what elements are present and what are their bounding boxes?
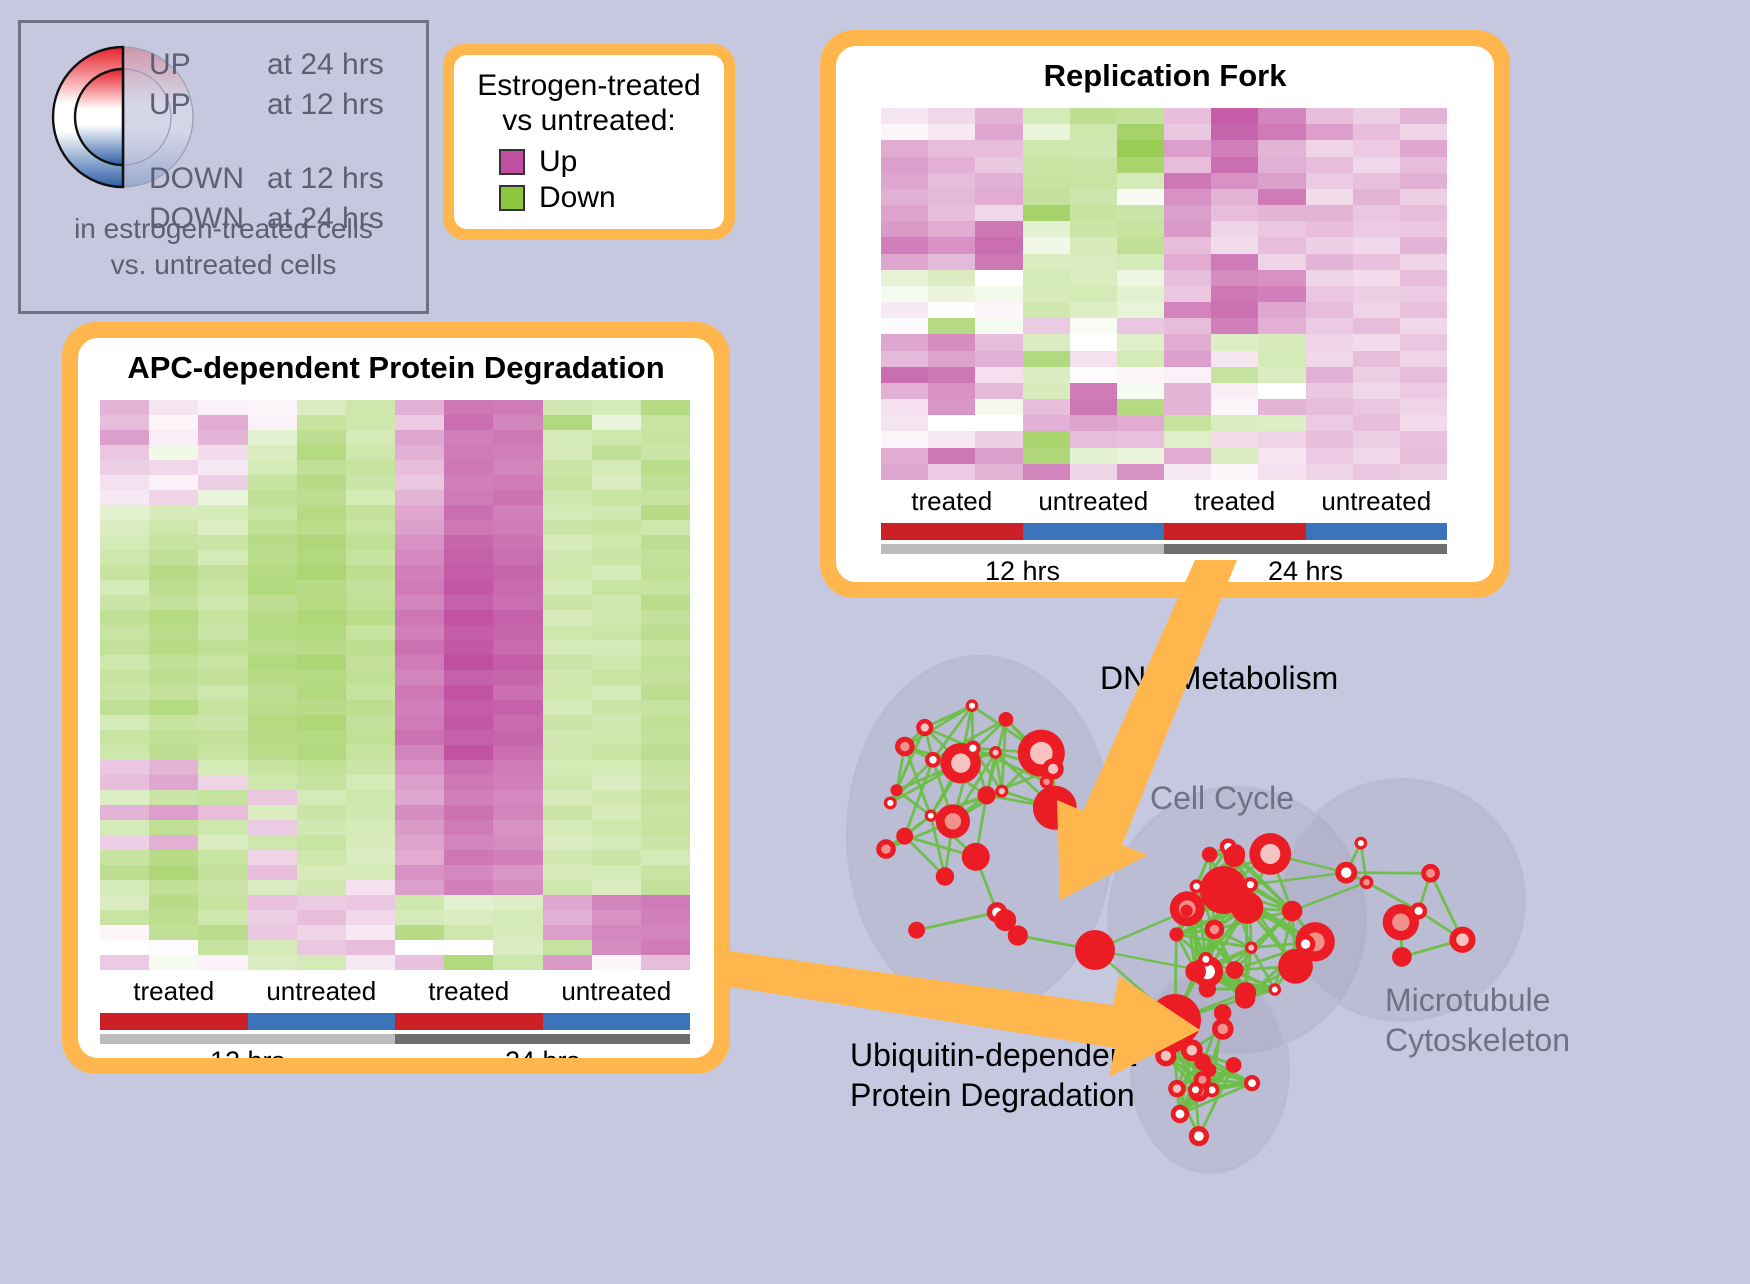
heatmap-cell xyxy=(543,790,592,805)
heatmap-cell xyxy=(198,745,247,760)
heatmap-cell xyxy=(149,400,198,415)
heatmap-cell xyxy=(198,805,247,820)
heatmap-cell xyxy=(1164,140,1211,156)
heatmap-cell xyxy=(881,286,928,302)
heatmap-cell xyxy=(1117,108,1164,124)
heatmap-cell xyxy=(248,520,297,535)
heatmap-cell xyxy=(1258,383,1305,399)
expression-key-box: UP at 24 hrs UP at 12 hrs DOWN at 12 hrs… xyxy=(18,20,429,314)
heatmap-cell xyxy=(493,625,542,640)
heatmap-cell xyxy=(1023,431,1070,447)
heatmap-cell xyxy=(149,535,198,550)
network-node[interactable] xyxy=(1075,930,1115,970)
network-node[interactable] xyxy=(1202,847,1218,863)
network-node[interactable] xyxy=(1226,961,1244,979)
heatmap-cell xyxy=(881,431,928,447)
heatmap-cell xyxy=(641,835,690,850)
heatmap-cell xyxy=(395,760,444,775)
heatmap-cell xyxy=(543,775,592,790)
heatmap-cell xyxy=(928,286,975,302)
network-node[interactable] xyxy=(1282,901,1303,922)
cluster-label-ubiquitin-dependent: Ubiquitin-dependent xyxy=(850,1035,1136,1075)
heatmap-cell xyxy=(444,955,493,970)
key-row: DOWN at 12 hrs xyxy=(149,159,419,199)
heatmap-cell xyxy=(1117,270,1164,286)
heatmap-cell xyxy=(1211,334,1258,350)
heatmap-cell xyxy=(1258,173,1305,189)
heatmap-cell xyxy=(100,565,149,580)
heatmap-cell xyxy=(928,108,975,124)
heatmap-cell xyxy=(881,318,928,334)
heatmap-cell xyxy=(248,415,297,430)
heatmap-cell xyxy=(592,760,641,775)
heatmap-cell xyxy=(1023,108,1070,124)
heatmap-cell xyxy=(592,955,641,970)
heatmap-cell xyxy=(248,880,297,895)
key-footer-line1: in estrogen-treated cells xyxy=(21,211,426,247)
heatmap-cell xyxy=(592,895,641,910)
heatmap-cell xyxy=(198,460,247,475)
heatmap-cell xyxy=(444,415,493,430)
heatmap-cell xyxy=(1306,124,1353,140)
heatmap-cell xyxy=(100,475,149,490)
heatmap-cell xyxy=(149,730,198,745)
legend-title-line1: Estrogen-treated xyxy=(477,68,700,103)
heatmap-cell xyxy=(592,880,641,895)
treatment-bar-apc xyxy=(100,1013,690,1030)
heatmap-cell xyxy=(928,318,975,334)
heatmap-cell xyxy=(975,431,1022,447)
heatmap-cell xyxy=(297,430,346,445)
axis-group-label: treated xyxy=(100,976,248,1007)
heatmap-cell xyxy=(1070,173,1117,189)
updown-legend-box: Estrogen-treated vs untreated: Up Down xyxy=(443,44,735,240)
heatmap-cell xyxy=(1258,140,1305,156)
heatmap-cell xyxy=(1353,140,1400,156)
heatmap-cell xyxy=(297,850,346,865)
network-node[interactable] xyxy=(896,828,913,845)
heatmap-cell xyxy=(1211,367,1258,383)
heatmap-cell xyxy=(1400,124,1447,140)
heatmap-cell xyxy=(928,140,975,156)
cluster-label-microtubule-cytoskeleton: Microtubule Cytoskeleton xyxy=(1385,980,1570,1060)
heatmap-cell xyxy=(149,760,198,775)
heatmap-cell xyxy=(493,565,542,580)
heatmap-cell xyxy=(641,475,690,490)
heatmap-cell xyxy=(1070,464,1117,480)
heatmap-cell xyxy=(592,730,641,745)
heatmap-cell xyxy=(248,955,297,970)
heatmap-cell xyxy=(493,535,542,550)
heatmap-cell xyxy=(444,745,493,760)
network-node[interactable] xyxy=(908,922,925,939)
heatmap-cell xyxy=(493,745,542,760)
heatmap-cell xyxy=(543,865,592,880)
heatmap-cell xyxy=(198,430,247,445)
heatmap-cell xyxy=(444,760,493,775)
heatmap-cell xyxy=(592,625,641,640)
heatmap-cell xyxy=(1164,351,1211,367)
heatmap-cell xyxy=(1353,334,1400,350)
heatmap-cell xyxy=(1023,464,1070,480)
heatmap-cell xyxy=(395,595,444,610)
heatmap-cell xyxy=(297,550,346,565)
network-node[interactable] xyxy=(998,712,1013,727)
heatmap-cell xyxy=(1070,383,1117,399)
heatmap-cell xyxy=(100,820,149,835)
heatmap-cell xyxy=(543,460,592,475)
axis-group-bar xyxy=(100,1013,248,1030)
heatmap-cell xyxy=(928,383,975,399)
heatmap-cell xyxy=(1258,334,1305,350)
heatmap-cell xyxy=(1306,205,1353,221)
time-bar-apc xyxy=(100,1034,690,1044)
heatmap-cell xyxy=(395,820,444,835)
heatmap-cell xyxy=(149,940,198,955)
heatmap-cell xyxy=(149,430,198,445)
heatmap-cell xyxy=(1211,448,1258,464)
heatmap-cell xyxy=(1070,318,1117,334)
heatmap-cell xyxy=(248,460,297,475)
heatmap-cell xyxy=(149,490,198,505)
heatmap-cell xyxy=(346,730,395,745)
heatmap-cell xyxy=(248,430,297,445)
heatmap-cell xyxy=(928,302,975,318)
heatmap-cell xyxy=(1258,157,1305,173)
heatmap-cell xyxy=(198,655,247,670)
heatmap-cell xyxy=(1353,351,1400,367)
heatmap-cell xyxy=(444,790,493,805)
network-node[interactable] xyxy=(1033,786,1077,830)
heatmap-cell xyxy=(1164,124,1211,140)
heatmap-cell xyxy=(395,415,444,430)
heatmap-cell xyxy=(592,655,641,670)
network-node[interactable] xyxy=(1226,1057,1242,1073)
heatmap-cell xyxy=(543,955,592,970)
heatmap-cell xyxy=(198,865,247,880)
network-node[interactable] xyxy=(1169,927,1183,941)
cluster-label-cytoskeleton: Cytoskeleton xyxy=(1385,1020,1570,1060)
heatmap-cell xyxy=(1023,189,1070,205)
panel-replication-fork: Replication Fork treateduntreatedtreated… xyxy=(820,30,1510,598)
heatmap-cell xyxy=(1258,124,1305,140)
axis-group-label: treated xyxy=(1164,486,1306,517)
heatmap-cell xyxy=(928,157,975,173)
network-node-core xyxy=(1415,907,1423,915)
heatmap-cell xyxy=(1306,464,1353,480)
heatmap-cell xyxy=(198,820,247,835)
heatmap-cell xyxy=(1070,205,1117,221)
heatmap-cell xyxy=(1070,415,1117,431)
heatmap-cell xyxy=(1164,205,1211,221)
heatmap-cell xyxy=(592,610,641,625)
heatmap-cell xyxy=(493,640,542,655)
heatmap-cell xyxy=(346,670,395,685)
heatmap-cell xyxy=(248,820,297,835)
heatmap-cell xyxy=(346,640,395,655)
key-direction: DOWN xyxy=(149,162,267,196)
heatmap-cell xyxy=(149,415,198,430)
heatmap-cell xyxy=(928,254,975,270)
heatmap-cell xyxy=(493,730,542,745)
network-node-core xyxy=(1194,1131,1204,1141)
heatmap-cell xyxy=(198,895,247,910)
heatmap-cell xyxy=(1070,189,1117,205)
heatmap-cell xyxy=(444,610,493,625)
heatmap-cell xyxy=(1164,464,1211,480)
heatmap-cell xyxy=(1117,237,1164,253)
heatmap-cell xyxy=(1258,254,1305,270)
network-node[interactable] xyxy=(1392,947,1412,967)
heatmap-cell xyxy=(1117,286,1164,302)
heatmap-cell xyxy=(1023,205,1070,221)
network-node[interactable] xyxy=(1224,846,1245,867)
heatmap-cell xyxy=(248,715,297,730)
heatmap-cell xyxy=(198,550,247,565)
heatmap-cell xyxy=(149,835,198,850)
heatmap-cell xyxy=(975,399,1022,415)
axis-group-bar xyxy=(1164,523,1306,540)
heatmap-cell xyxy=(198,670,247,685)
heatmap-cell xyxy=(592,715,641,730)
heatmap-cell xyxy=(1070,124,1117,140)
network-node[interactable] xyxy=(962,843,990,871)
heatmap-cell xyxy=(149,880,198,895)
heatmap-cell xyxy=(1353,431,1400,447)
network-node-core xyxy=(969,745,976,752)
heatmap-cell xyxy=(149,850,198,865)
time-group-bar xyxy=(395,1034,690,1044)
heatmap-cell xyxy=(1306,367,1353,383)
heatmap-cell xyxy=(395,835,444,850)
heatmap-cell xyxy=(149,715,198,730)
heatmap-cell xyxy=(543,445,592,460)
heatmap-cell xyxy=(1070,431,1117,447)
network-node[interactable] xyxy=(977,786,995,804)
heatmap-cell xyxy=(346,595,395,610)
heatmap-cell xyxy=(543,925,592,940)
heatmap-cell xyxy=(881,189,928,205)
heatmap-cell xyxy=(493,550,542,565)
cluster-label-cell-cycle: Cell Cycle xyxy=(1150,780,1294,817)
heatmap-cell xyxy=(1023,383,1070,399)
heatmap-cell xyxy=(198,760,247,775)
heatmap-cell xyxy=(1306,254,1353,270)
key-direction: UP xyxy=(149,48,267,82)
heatmap-cell xyxy=(248,685,297,700)
heatmap-cell xyxy=(1164,108,1211,124)
heatmap-cell xyxy=(1164,334,1211,350)
heatmap-cell xyxy=(1258,286,1305,302)
heatmap-cell xyxy=(543,760,592,775)
heatmap-cell xyxy=(928,367,975,383)
heatmap-cell xyxy=(543,580,592,595)
heatmap-cell xyxy=(543,625,592,640)
heatmap-cell xyxy=(1117,334,1164,350)
heatmap-cell xyxy=(248,490,297,505)
heatmap-cell xyxy=(1117,464,1164,480)
heatmap-cell xyxy=(641,850,690,865)
heatmap-cell xyxy=(975,383,1022,399)
heatmap-cell xyxy=(100,955,149,970)
heatmap-cell xyxy=(395,745,444,760)
heatmap-cell xyxy=(592,670,641,685)
network-node-core xyxy=(1218,1024,1228,1034)
heatmap-cell xyxy=(1070,254,1117,270)
heatmap-cell xyxy=(1023,157,1070,173)
heatmap-cell xyxy=(100,715,149,730)
heatmap-cell xyxy=(592,505,641,520)
axis-labels-replication-fork: treateduntreatedtreateduntreated xyxy=(881,486,1447,517)
heatmap-cell xyxy=(975,334,1022,350)
network-node-core xyxy=(992,749,998,755)
heatmap-cell xyxy=(1353,108,1400,124)
heatmap-cell xyxy=(248,940,297,955)
heatmap-cell xyxy=(346,880,395,895)
heatmap-cell xyxy=(928,189,975,205)
heatmap-cell xyxy=(444,520,493,535)
heatmap-cell xyxy=(346,760,395,775)
heatmap-cell xyxy=(1353,464,1400,480)
heatmap-cell xyxy=(149,745,198,760)
heatmap-cell xyxy=(1023,270,1070,286)
heatmap-cell xyxy=(543,685,592,700)
network-node[interactable] xyxy=(1218,867,1231,880)
heatmap-cell xyxy=(1353,221,1400,237)
heatmap-cell xyxy=(149,655,198,670)
heatmap-cell xyxy=(346,895,395,910)
heatmap-cell xyxy=(149,820,198,835)
key-direction: UP xyxy=(149,88,267,122)
heatmap-cell xyxy=(641,565,690,580)
heatmap-cell xyxy=(297,610,346,625)
network-node[interactable] xyxy=(1149,994,1201,1046)
network-node[interactable] xyxy=(1235,982,1256,1003)
heatmap-cell xyxy=(346,565,395,580)
heatmap-cell xyxy=(641,880,690,895)
heatmap-cell xyxy=(395,655,444,670)
heatmap-cell xyxy=(1306,237,1353,253)
heatmap-cell xyxy=(395,580,444,595)
heatmap-cell xyxy=(1211,140,1258,156)
heatmap-cell xyxy=(975,318,1022,334)
heatmap-cell xyxy=(1211,157,1258,173)
heatmap-cell xyxy=(149,445,198,460)
heatmap-cell xyxy=(1023,124,1070,140)
heatmap-cell xyxy=(395,610,444,625)
heatmap-cell xyxy=(1164,415,1211,431)
heatmap-cell xyxy=(444,670,493,685)
heatmap-cell xyxy=(1164,286,1211,302)
heatmap-cell xyxy=(543,880,592,895)
heatmap-cell xyxy=(641,430,690,445)
heatmap-cell xyxy=(975,221,1022,237)
heatmap-cell xyxy=(395,475,444,490)
heatmap-cell xyxy=(248,850,297,865)
axis-group-label: untreated xyxy=(248,976,396,1007)
heatmap-cell xyxy=(493,460,542,475)
time-group-bar xyxy=(881,544,1164,554)
network-node-core xyxy=(1426,869,1435,878)
heatmap-cell xyxy=(346,940,395,955)
heatmap-cell xyxy=(1070,237,1117,253)
network-node-core xyxy=(1363,879,1370,886)
heatmap-cell xyxy=(1117,140,1164,156)
network-node[interactable] xyxy=(936,867,954,885)
heatmap-cell xyxy=(592,640,641,655)
heatmap-cell xyxy=(1117,431,1164,447)
network-node-core xyxy=(1247,881,1254,888)
heatmap-cell xyxy=(592,430,641,445)
heatmap-cell xyxy=(248,610,297,625)
heatmap-cell xyxy=(1211,286,1258,302)
heatmap-cell xyxy=(975,415,1022,431)
heatmap-cell xyxy=(395,535,444,550)
heatmap-cell xyxy=(543,505,592,520)
heatmap-cell xyxy=(100,625,149,640)
heatmap-cell xyxy=(1070,157,1117,173)
heatmap-cell xyxy=(346,700,395,715)
heatmap-cell xyxy=(346,820,395,835)
heatmap-cell xyxy=(543,700,592,715)
heatmap-cell xyxy=(543,895,592,910)
network-node-core xyxy=(1043,779,1050,786)
heatmap-cell xyxy=(198,955,247,970)
heatmap-cell xyxy=(395,955,444,970)
heatmap-cell xyxy=(149,925,198,940)
network-node-core xyxy=(1456,933,1469,946)
heatmap-cell xyxy=(592,520,641,535)
heatmap-cell xyxy=(1400,157,1447,173)
heatmap-cell xyxy=(248,655,297,670)
heatmap-cell xyxy=(1400,286,1447,302)
heatmap-cell xyxy=(881,173,928,189)
heatmap-cell xyxy=(248,670,297,685)
heatmap-cell xyxy=(493,445,542,460)
heatmap-cell xyxy=(1164,399,1211,415)
key-footer-line2: vs. untreated cells xyxy=(21,247,426,283)
heatmap-cell xyxy=(100,655,149,670)
heatmap-cell xyxy=(1400,205,1447,221)
heatmap-cell xyxy=(444,505,493,520)
heatmap-cell xyxy=(1258,367,1305,383)
network-node[interactable] xyxy=(1241,894,1258,911)
heatmap-cell xyxy=(1353,205,1400,221)
network-node[interactable] xyxy=(1180,905,1192,917)
heatmap-cell xyxy=(346,550,395,565)
heatmap-cell xyxy=(881,399,928,415)
heatmap-cell xyxy=(881,448,928,464)
heatmap-cell xyxy=(1117,302,1164,318)
heatmap-cell xyxy=(149,640,198,655)
key-row: UP at 24 hrs xyxy=(149,45,419,85)
heatmap-cell xyxy=(543,745,592,760)
network-node[interactable] xyxy=(1199,980,1216,997)
network-node[interactable] xyxy=(994,909,1016,931)
heatmap-cell xyxy=(641,925,690,940)
heatmap-cell xyxy=(975,464,1022,480)
network-node[interactable] xyxy=(891,784,903,796)
heatmap-cell xyxy=(493,505,542,520)
heatmap-cell xyxy=(149,775,198,790)
heatmap-cell xyxy=(1306,157,1353,173)
heatmap-cell xyxy=(881,270,928,286)
heatmap-cell xyxy=(592,910,641,925)
heatmap-cell xyxy=(198,445,247,460)
heatmap-cell xyxy=(395,790,444,805)
heatmap-cell xyxy=(198,625,247,640)
heatmap-cell xyxy=(248,895,297,910)
